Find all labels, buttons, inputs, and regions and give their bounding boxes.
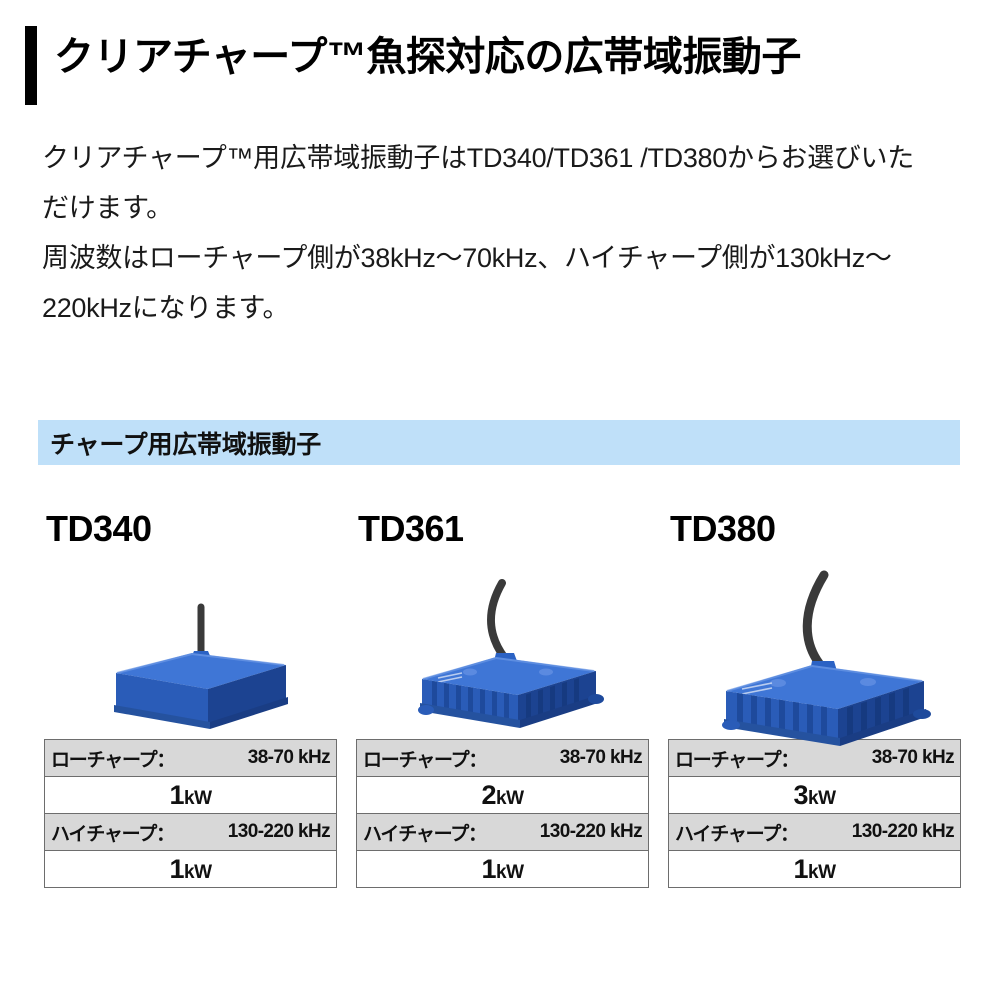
product-name: TD380 <box>668 505 980 557</box>
spec-table: ローチャープ： 38-70 kHz 1kW ハイチャープ： 130-220 kH <box>44 739 337 888</box>
high-chirp-power-unit: kW <box>808 862 836 883</box>
low-chirp-value: 38-70 kHz <box>248 747 330 769</box>
transducer-large-finned-box-icon <box>706 567 956 747</box>
high-chirp-value: 130-220 kHz <box>228 821 330 843</box>
low-chirp-power-unit: kW <box>496 788 524 809</box>
intro-paragraph-2: 周波数はローチャープ側が38kHz〜70kHz、ハイチャープ側が130kHz〜 … <box>42 233 952 333</box>
low-chirp-power-number: 2 <box>481 780 496 810</box>
product-image <box>44 557 356 739</box>
table-row: 1kW <box>45 777 337 814</box>
low-chirp-power-number: 1 <box>169 780 184 810</box>
low-chirp-power-unit: kW <box>808 788 836 809</box>
page-header: クリアチャープ™魚探対応の広帯域振動子 <box>25 26 801 105</box>
transducer-smooth-box-icon <box>96 599 306 739</box>
transducer-finned-box-icon <box>400 577 630 737</box>
product-column: TD361 <box>356 505 668 888</box>
product-name: TD361 <box>356 505 668 557</box>
intro-paragraph-1: クリアチャープ™用広帯域振動子はTD340/TD361 /TD380からお選びい… <box>42 133 952 233</box>
low-chirp-label: ローチャープ： <box>675 745 798 772</box>
low-chirp-label: ローチャープ： <box>51 745 174 772</box>
table-row: 3kW <box>669 777 961 814</box>
high-chirp-power-unit: kW <box>184 862 212 883</box>
high-chirp-power-number: 1 <box>481 854 496 884</box>
title-accent-bar <box>25 26 37 105</box>
low-chirp-power-unit: kW <box>184 788 212 809</box>
product-comparison-grid: TD340 <box>0 505 1000 905</box>
intro-text-block: クリアチャープ™用広帯域振動子はTD340/TD361 /TD380からお選びい… <box>42 133 952 333</box>
low-chirp-value: 38-70 kHz <box>872 747 954 769</box>
product-column: TD340 <box>44 505 356 888</box>
product-name: TD340 <box>44 505 356 557</box>
table-row: ローチャープ： 38-70 kHz <box>45 740 337 777</box>
table-row: ハイチャープ： 130-220 kHz <box>357 814 649 851</box>
section-band-label: チャープ用広帯域振動子 <box>50 425 321 461</box>
low-chirp-power-number: 3 <box>793 780 808 810</box>
section-band: チャープ用広帯域振動子 <box>38 420 960 465</box>
high-chirp-label: ハイチャープ： <box>51 819 174 846</box>
intro-line-1: クリアチャープ™用広帯域振動子はTD340/TD361 /TD380からお選びい… <box>42 143 914 173</box>
spec-table: ローチャープ： 38-70 kHz 2kW ハイチャープ： 130-220 kH <box>356 739 649 888</box>
high-chirp-label: ハイチャープ： <box>363 819 486 846</box>
intro-line-4: 220kHzになります。 <box>42 293 289 323</box>
high-chirp-power-number: 1 <box>793 854 808 884</box>
table-row: 1kW <box>669 851 961 888</box>
table-row: ローチャープ： 38-70 kHz <box>357 740 649 777</box>
high-chirp-value: 130-220 kHz <box>852 821 954 843</box>
low-chirp-label: ローチャープ： <box>363 745 486 772</box>
table-row: 1kW <box>45 851 337 888</box>
table-row: 1kW <box>357 851 649 888</box>
high-chirp-power-number: 1 <box>169 854 184 884</box>
spec-table: ローチャープ： 38-70 kHz 3kW ハイチャープ： 130-220 kH <box>668 739 961 888</box>
high-chirp-value: 130-220 kHz <box>540 821 642 843</box>
intro-line-2: だけます。 <box>42 193 173 223</box>
product-column: TD380 <box>668 505 980 888</box>
intro-line-3: 周波数はローチャープ側が38kHz〜70kHz、ハイチャープ側が130kHz〜 <box>42 243 892 273</box>
high-chirp-power-unit: kW <box>496 862 524 883</box>
table-row: 2kW <box>357 777 649 814</box>
high-chirp-label: ハイチャープ： <box>675 819 798 846</box>
table-row: ハイチャープ： 130-220 kHz <box>45 814 337 851</box>
page-title: クリアチャープ™魚探対応の広帯域振動子 <box>54 26 801 88</box>
product-image <box>668 557 980 739</box>
table-row: ハイチャープ： 130-220 kHz <box>669 814 961 851</box>
low-chirp-value: 38-70 kHz <box>560 747 642 769</box>
product-image <box>356 557 668 739</box>
